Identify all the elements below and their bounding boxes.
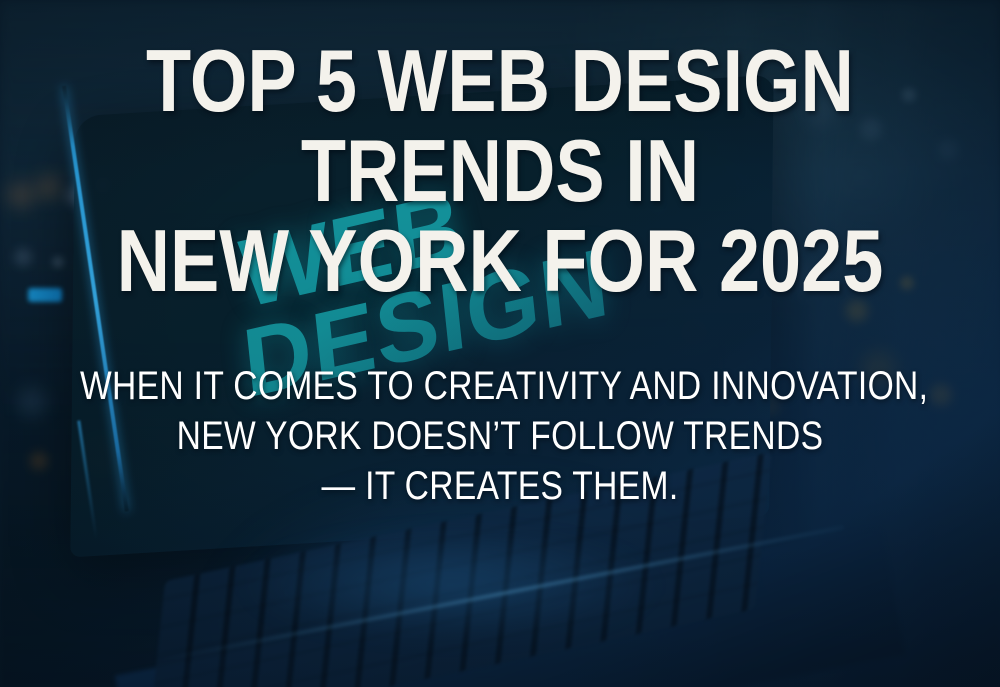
subtitle-line-1: WHEN IT COMES TO CREATIVITY AND INNOVATI… <box>80 361 920 411</box>
headline-line-2: TRENDS IN <box>80 126 920 216</box>
poster-content: TOP 5 WEB DESIGN TRENDS IN NEW YORK FOR … <box>0 0 1000 687</box>
headline-line-3: NEW YORK FOR 2025 <box>80 216 920 306</box>
subtitle-line-2: NEW YORK DOESN’T FOLLOW TRENDS <box>80 411 920 461</box>
headline-line-1: TOP 5 WEB DESIGN <box>80 36 920 126</box>
subtitle: WHEN IT COMES TO CREATIVITY AND INNOVATI… <box>0 361 1000 511</box>
subtitle-line-3: — IT CREATES THEM. <box>80 461 920 511</box>
poster-canvas: WEB DESIGN TOP 5 WEB DESIGN TRENDS IN NE… <box>0 0 1000 687</box>
page-title: TOP 5 WEB DESIGN TRENDS IN NEW YORK FOR … <box>0 36 1000 305</box>
